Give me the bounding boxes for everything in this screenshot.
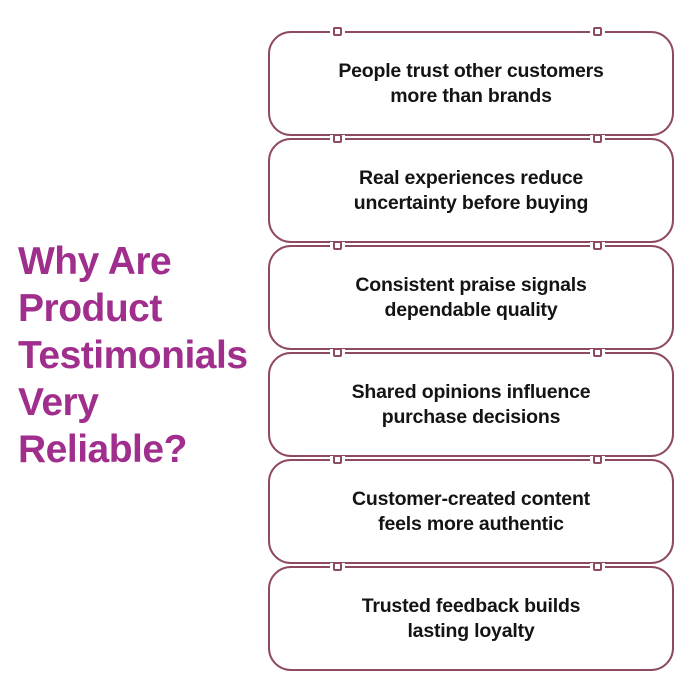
square-handle-icon-right[interactable]	[593, 241, 602, 250]
page-title: Why Are Product Testimonials Very Reliab…	[18, 238, 258, 473]
statement-box-text-line-1: People trust other customers	[338, 60, 603, 82]
page-title-line-2: Product	[18, 285, 258, 332]
page-title-line-4: Very	[18, 379, 258, 426]
statement-box-text: People trust other customers more than b…	[268, 59, 674, 109]
statement-box-text-line-2: lasting loyalty	[407, 620, 534, 642]
statement-box-text-line-2: uncertainty before buying	[354, 192, 588, 214]
square-handle-icon-left[interactable]	[333, 27, 342, 36]
square-handle-icon-left[interactable]	[333, 134, 342, 143]
statement-box-text: Consistent praise signals dependable qua…	[268, 273, 674, 323]
statement-box-text-line-1: Real experiences reduce	[359, 167, 583, 189]
infographic-canvas: Why Are Product Testimonials Very Reliab…	[0, 0, 700, 700]
square-handle-icon-right[interactable]	[593, 455, 602, 464]
square-handle-icon-right[interactable]	[593, 134, 602, 143]
statement-box-text: Trusted feedback builds lasting loyalty	[268, 594, 674, 644]
statement-box-text-line-1: Consistent praise signals	[355, 274, 586, 296]
statement-box-text-line-1: Shared opinions influence	[352, 381, 591, 403]
page-title-line-1: Why Are	[18, 238, 258, 285]
statement-box[interactable]: Real experiences reduce uncertainty befo…	[268, 138, 674, 243]
statement-box-text-line-2: purchase decisions	[382, 406, 560, 428]
page-title-line-3: Testimonials	[18, 332, 258, 379]
statement-box[interactable]: Customer-created content feels more auth…	[268, 459, 674, 564]
statement-box-text-line-1: Trusted feedback builds	[362, 595, 581, 617]
square-handle-icon-right[interactable]	[593, 348, 602, 357]
statement-box-text: Shared opinions influence purchase decis…	[268, 380, 674, 430]
statement-box[interactable]: Consistent praise signals dependable qua…	[268, 245, 674, 350]
statement-box-text: Real experiences reduce uncertainty befo…	[268, 166, 674, 216]
square-handle-icon-left[interactable]	[333, 348, 342, 357]
statement-box[interactable]: Shared opinions influence purchase decis…	[268, 352, 674, 457]
statement-box-list: People trust other customers more than b…	[268, 31, 674, 673]
statement-box[interactable]: People trust other customers more than b…	[268, 31, 674, 136]
square-handle-icon-right[interactable]	[593, 27, 602, 36]
square-handle-icon-left[interactable]	[333, 241, 342, 250]
statement-box[interactable]: Trusted feedback builds lasting loyalty	[268, 566, 674, 671]
statement-box-text: Customer-created content feels more auth…	[268, 487, 674, 537]
square-handle-icon-left[interactable]	[333, 562, 342, 571]
page-title-line-5: Reliable?	[18, 426, 258, 473]
statement-box-text-line-1: Customer-created content	[352, 488, 590, 510]
statement-box-text-line-2: feels more authentic	[378, 513, 564, 535]
statement-box-text-line-2: more than brands	[390, 85, 552, 107]
statement-box-text-line-2: dependable quality	[384, 299, 557, 321]
square-handle-icon-right[interactable]	[593, 562, 602, 571]
square-handle-icon-left[interactable]	[333, 455, 342, 464]
